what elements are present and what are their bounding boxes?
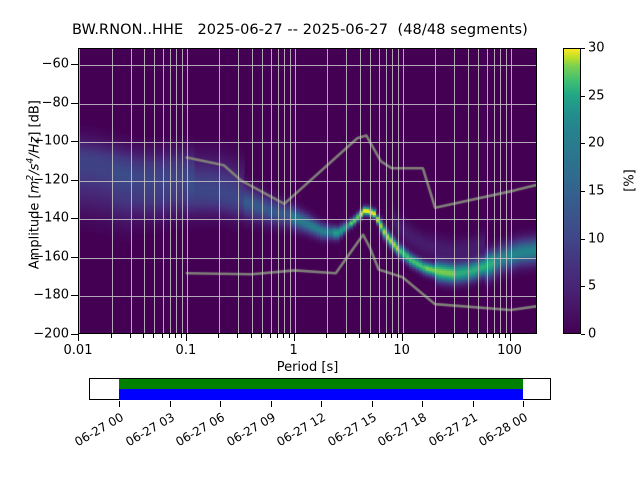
time-tick: [321, 401, 322, 407]
time-tick-label: 06-27 09: [217, 410, 278, 453]
time-tick-label: 06-28 00: [469, 410, 530, 453]
time-tick-label: 06-27 12: [267, 410, 328, 453]
time-tick: [372, 401, 373, 407]
time-tick-label: 06-27 15: [318, 410, 379, 453]
time-tick-label: 06-27 06: [166, 410, 227, 453]
time-tick: [473, 401, 474, 407]
time-tick: [422, 401, 423, 407]
time-tick-label: 06-27 21: [419, 410, 480, 453]
time-tick-label: 06-27 00: [65, 410, 126, 453]
time-tick: [119, 401, 120, 407]
time-tick: [170, 401, 171, 407]
time-tick: [271, 401, 272, 407]
time-axis-ticks: 06-27 0006-27 0306-27 0606-27 0906-27 12…: [0, 0, 640, 480]
time-tick: [220, 401, 221, 407]
ppsd-figure: BW.RNON..HHE 2025-06-27 -- 2025-06-27 (4…: [0, 0, 640, 480]
time-tick-label: 06-27 03: [116, 410, 177, 453]
time-tick: [523, 401, 524, 407]
time-tick-label: 06-27 18: [368, 410, 429, 453]
